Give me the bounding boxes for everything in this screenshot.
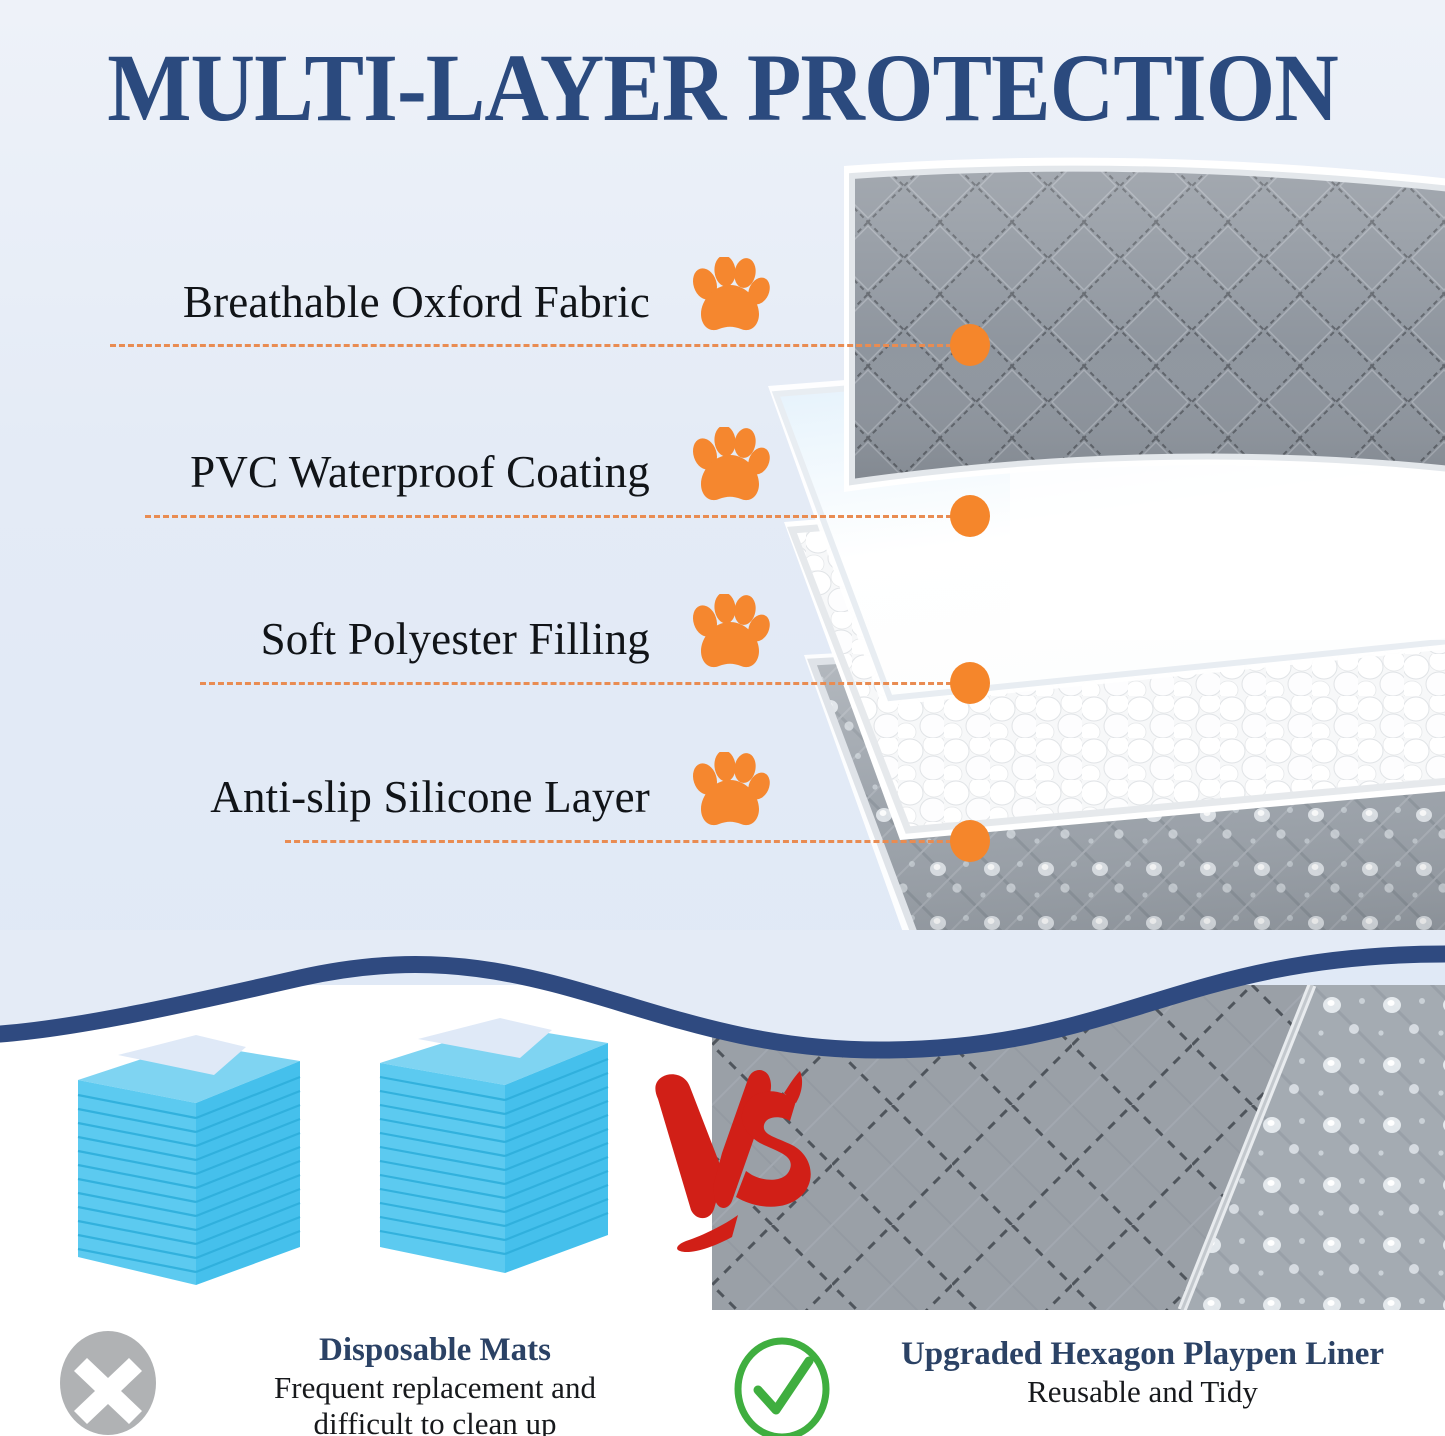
x-mark-icon [58,1330,158,1436]
vs-badge [640,1065,830,1265]
connector-dot-4 [950,820,990,862]
feature-label-3: Soft Polyester Filling [261,614,650,664]
connector-dot-1 [950,324,990,366]
feature-row-2: PVC Waterproof Coating [0,425,770,515]
layered-product-illustration [760,150,1445,980]
multi-layer-section: MULTI-LAYER PROTECTION [0,0,1445,1010]
caption-line2-left: difficult to clean up [170,1406,700,1436]
paw-icon [686,752,770,832]
caption-title-right: Upgraded Hexagon Playpen Liner [840,1334,1445,1374]
feature-label-2: PVC Waterproof Coating [190,447,650,497]
caption-disposable-mats: Disposable Mats Frequent replacement and… [0,1330,722,1436]
oxford-fabric-sheet [820,150,1445,510]
caption-hexagon-liner: Upgraded Hexagon Playpen Liner Reusable … [722,1330,1445,1436]
connector-line-1 [110,344,970,347]
caption-line1-left: Frequent replacement and [170,1370,700,1406]
caption-line1-right: Reusable and Tidy [840,1374,1445,1410]
check-mark-icon [732,1336,832,1436]
feature-label-1: Breathable Oxford Fabric [183,277,650,327]
connector-dot-2 [950,495,990,537]
page-title: MULTI-LAYER PROTECTION [51,34,1395,142]
feature-row-3: Soft Polyester Filling [0,592,770,682]
product-infographic: MULTI-LAYER PROTECTION [0,0,1445,1436]
paw-icon [686,427,770,507]
feature-label-4: Anti-slip Silicone Layer [210,772,650,822]
connector-dot-3 [950,662,990,704]
connector-line-4 [285,840,970,843]
feature-row-4: Anti-slip Silicone Layer [0,750,770,840]
caption-title-left: Disposable Mats [170,1330,700,1370]
paw-icon [686,257,770,337]
feature-row-1: Breathable Oxford Fabric [0,255,770,345]
paw-icon [686,594,770,674]
connector-line-2 [145,515,970,518]
connector-line-3 [200,682,970,685]
